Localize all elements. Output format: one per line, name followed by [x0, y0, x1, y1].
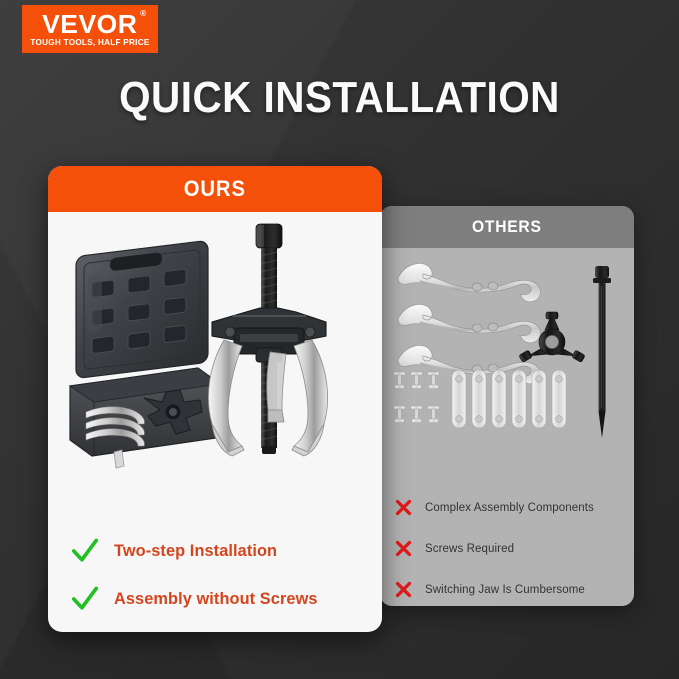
others-panel-header: OTHERS: [380, 206, 634, 248]
logo-tagline: TOUGH TOOLS, HALF PRICE: [30, 39, 149, 47]
ours-feature-list: Two-step Installation Assembly without S…: [70, 536, 326, 614]
vevor-logo: VEVOR ® TOUGH TOOLS, HALF PRICE: [22, 5, 158, 53]
others-header-label: OTHERS: [472, 217, 542, 237]
list-item: Switching Jaw Is Cumbersome: [394, 580, 626, 599]
jaw-arm-group: [398, 263, 541, 383]
ours-panel-body: Two-step Installation Assembly without S…: [48, 212, 382, 632]
ours-panel-header: OURS: [48, 166, 382, 212]
cross-icon: [394, 539, 413, 558]
page-title: QUICK INSTALLATION: [27, 73, 652, 123]
others-panel-body: Complex Assembly Components Screws Requi…: [380, 248, 634, 606]
drawback-label: Switching Jaw Is Cumbersome: [425, 584, 585, 596]
ours-header-label: OURS: [184, 176, 246, 202]
ours-product-illustration: [48, 216, 382, 476]
registered-mark-icon: ®: [140, 10, 147, 18]
list-item: Screws Required: [394, 539, 626, 558]
feature-label: Two-step Installation: [114, 541, 277, 561]
check-icon: [70, 536, 100, 566]
link-plates-group: [452, 370, 566, 428]
feature-label: Assembly without Screws: [114, 589, 318, 609]
screw-rod-part: [593, 266, 611, 438]
list-item: Complex Assembly Components: [394, 498, 626, 517]
tool-case: [70, 240, 220, 468]
cross-icon: [394, 580, 413, 599]
ours-panel: OURS: [48, 166, 382, 632]
bolts-group: [394, 372, 439, 423]
cross-icon: [394, 498, 413, 517]
others-parts-illustration: [380, 248, 634, 463]
others-panel: OTHERS: [380, 206, 634, 606]
logo-wordmark: VEVOR ®: [42, 11, 137, 37]
check-icon: [70, 584, 100, 614]
logo-word-text: VEVOR: [42, 9, 137, 39]
list-item: Assembly without Screws: [70, 584, 326, 614]
drawback-label: Complex Assembly Components: [425, 502, 594, 514]
assembled-gear-puller: [208, 224, 327, 456]
drawback-label: Screws Required: [425, 543, 514, 555]
others-drawback-list: Complex Assembly Components Screws Requi…: [394, 498, 626, 599]
list-item: Two-step Installation: [70, 536, 326, 566]
